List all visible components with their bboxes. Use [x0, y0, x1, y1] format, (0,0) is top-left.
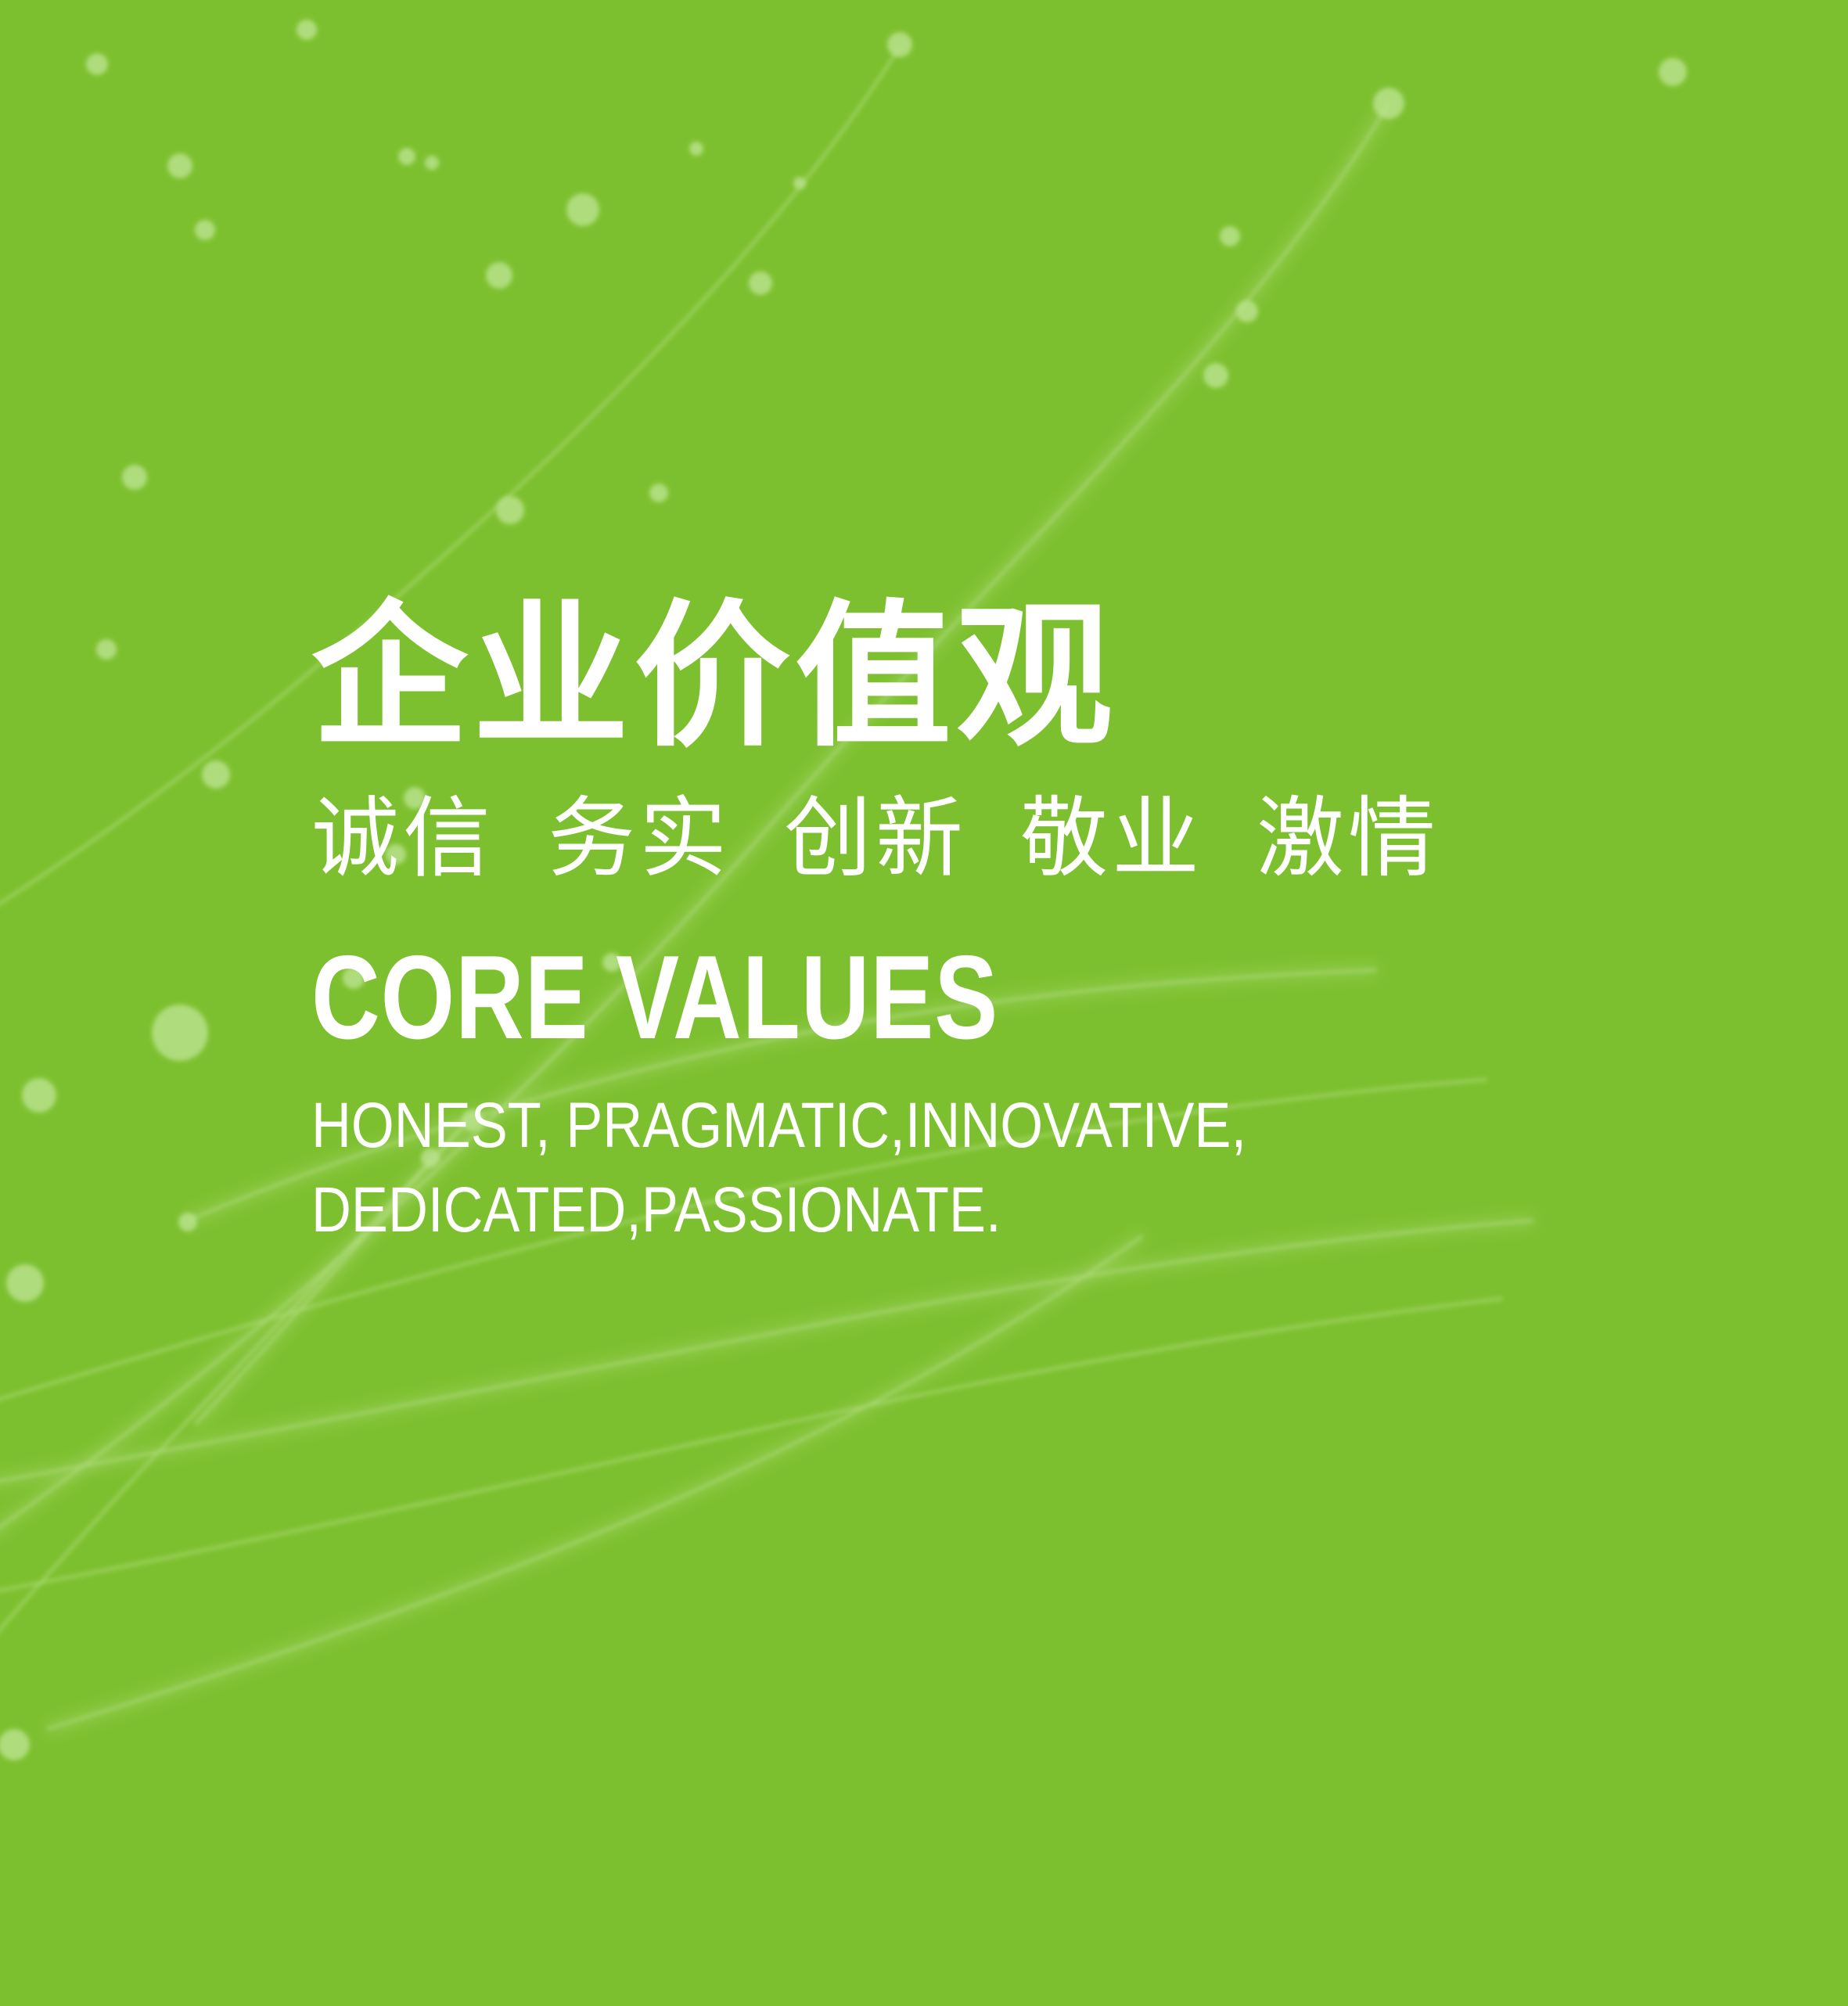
network-node — [1220, 226, 1240, 246]
network-node — [566, 193, 599, 226]
network-node — [96, 639, 117, 660]
network-node — [689, 142, 703, 156]
network-node — [297, 20, 317, 40]
network-line — [0, 1299, 1502, 1596]
network-line-glow — [47, 1236, 1142, 1729]
network-node — [486, 262, 512, 289]
network-node — [86, 53, 108, 75]
network-node — [649, 484, 668, 502]
network-node — [22, 1078, 56, 1113]
core-values-chinese-list: 诚信务实创新敬业激情 — [311, 789, 1641, 890]
page-title-english: CORE VALUES — [311, 938, 1375, 1057]
value-word-5: 激情 — [1257, 789, 1440, 890]
network-node — [1659, 58, 1687, 86]
network-node — [152, 1005, 208, 1061]
page-title-chinese: 企业价值观 — [311, 595, 1641, 760]
network-node — [425, 156, 439, 170]
network-node — [202, 760, 230, 789]
network-node — [167, 153, 192, 178]
network-node — [1203, 363, 1228, 388]
core-values-poster: 企业价值观 诚信务实创新敬业激情 CORE VALUES HONEST, PRA… — [0, 0, 1848, 2006]
core-values-english-list: HONEST, PRAGMATIC,INNOVATIVE, DEDICATED,… — [311, 1084, 1590, 1253]
network-node — [749, 271, 772, 295]
network-node — [0, 1729, 30, 1760]
network-node — [6, 1264, 44, 1302]
network-node — [1373, 88, 1404, 119]
value-word-3: 创新 — [784, 789, 967, 890]
text-content: 企业价值观 诚信务实创新敬业激情 CORE VALUES HONEST, PRA… — [311, 595, 1641, 1253]
network-node — [195, 220, 215, 240]
network-line-glow — [0, 1220, 1533, 1487]
network-line — [47, 1236, 1142, 1729]
network-node — [887, 32, 912, 57]
value-word-1: 诚信 — [311, 789, 494, 890]
value-word-2: 务实 — [548, 789, 731, 890]
network-node — [398, 148, 415, 165]
value-word-4: 敬业 — [1020, 789, 1203, 890]
network-node — [122, 465, 147, 490]
english-line-2: DEDICATED,PASSIONATE. — [311, 1168, 1590, 1253]
network-node — [1236, 300, 1258, 322]
network-node — [178, 1213, 197, 1231]
network-node — [793, 177, 806, 189]
english-line-1: HONEST, PRAGMATIC,INNOVATIVE, — [311, 1084, 1590, 1168]
network-line — [0, 1220, 1533, 1487]
network-node — [496, 496, 524, 524]
